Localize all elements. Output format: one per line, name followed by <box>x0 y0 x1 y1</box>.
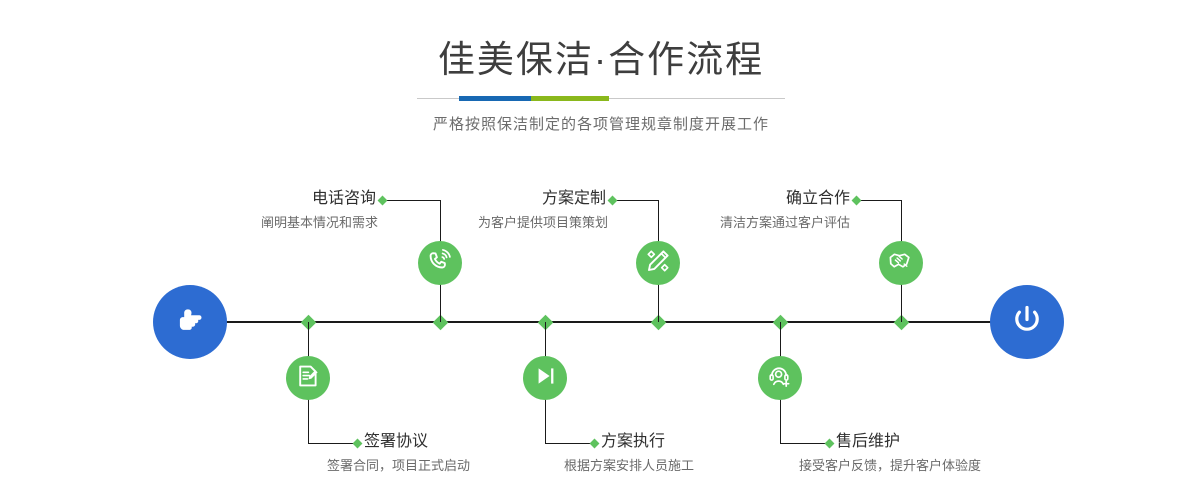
label-subtitle-step-4: 为客户提供项目策策划 <box>390 213 608 233</box>
label-subtitle-step-2: 签署合同，项目正式启动 <box>327 456 470 476</box>
elbow-step-3 <box>545 443 593 444</box>
customer-service-add-icon <box>767 363 793 394</box>
handshake-icon <box>888 248 914 279</box>
sign-document-icon <box>295 363 321 394</box>
label-title-step-1: 电话咨询 <box>180 188 376 210</box>
power-icon <box>1006 299 1048 346</box>
node-icon-step-6[interactable] <box>879 241 923 285</box>
label-diamond-step-6 <box>851 195 861 205</box>
node-icon-step-3[interactable] <box>523 356 567 400</box>
label-diamond-step-1 <box>377 195 387 205</box>
timeline-end-marker <box>990 285 1064 359</box>
page-title: 佳美保洁·合作流程 <box>0 0 1202 84</box>
label-title-step-6: 确立合作 <box>700 188 850 210</box>
node-icon-step-5[interactable] <box>758 356 802 400</box>
pencil-ruler-icon <box>645 248 671 279</box>
label-title-step-3: 方案执行 <box>601 431 665 453</box>
node-icon-step-1[interactable] <box>418 241 462 285</box>
elbow-step-5 <box>780 443 828 444</box>
node-icon-step-2[interactable] <box>286 356 330 400</box>
label-subtitle-step-6: 清洁方案通过客户评估 <box>668 213 850 233</box>
label-title-step-4: 方案定制 <box>420 188 606 210</box>
label-diamond-step-3 <box>589 438 599 448</box>
divider-segment-green <box>531 96 609 101</box>
phone-call-icon <box>427 248 453 279</box>
label-diamond-step-5 <box>824 438 834 448</box>
elbow-step-4 <box>613 200 658 201</box>
label-title-step-2: 签署协议 <box>364 431 428 453</box>
node-icon-step-4[interactable] <box>636 241 680 285</box>
timeline-start-marker <box>153 285 227 359</box>
label-subtitle-step-5: 接受客户反馈，提升客户体验度 <box>799 456 981 476</box>
cooperation-process-infographic: 佳美保洁·合作流程 严格按照保洁制定的各项管理规章制度开展工作 <box>0 0 1202 502</box>
label-title-step-5: 售后维护 <box>836 431 900 453</box>
header: 佳美保洁·合作流程 严格按照保洁制定的各项管理规章制度开展工作 <box>0 0 1202 136</box>
label-diamond-step-2 <box>352 438 362 448</box>
label-subtitle-step-1: 阐明基本情况和需求 <box>150 213 378 233</box>
divider-segment-blue <box>459 96 531 101</box>
elbow-step-2 <box>308 443 356 444</box>
label-subtitle-step-3: 根据方案安排人员施工 <box>564 456 694 476</box>
label-diamond-step-4 <box>607 195 617 205</box>
pointing-hand-icon <box>170 300 210 345</box>
title-divider <box>417 96 785 102</box>
play-next-icon <box>532 363 558 394</box>
page-subtitle: 严格按照保洁制定的各项管理规章制度开展工作 <box>0 102 1202 136</box>
timeline-axis <box>222 321 1002 323</box>
elbow-step-6 <box>857 200 901 201</box>
